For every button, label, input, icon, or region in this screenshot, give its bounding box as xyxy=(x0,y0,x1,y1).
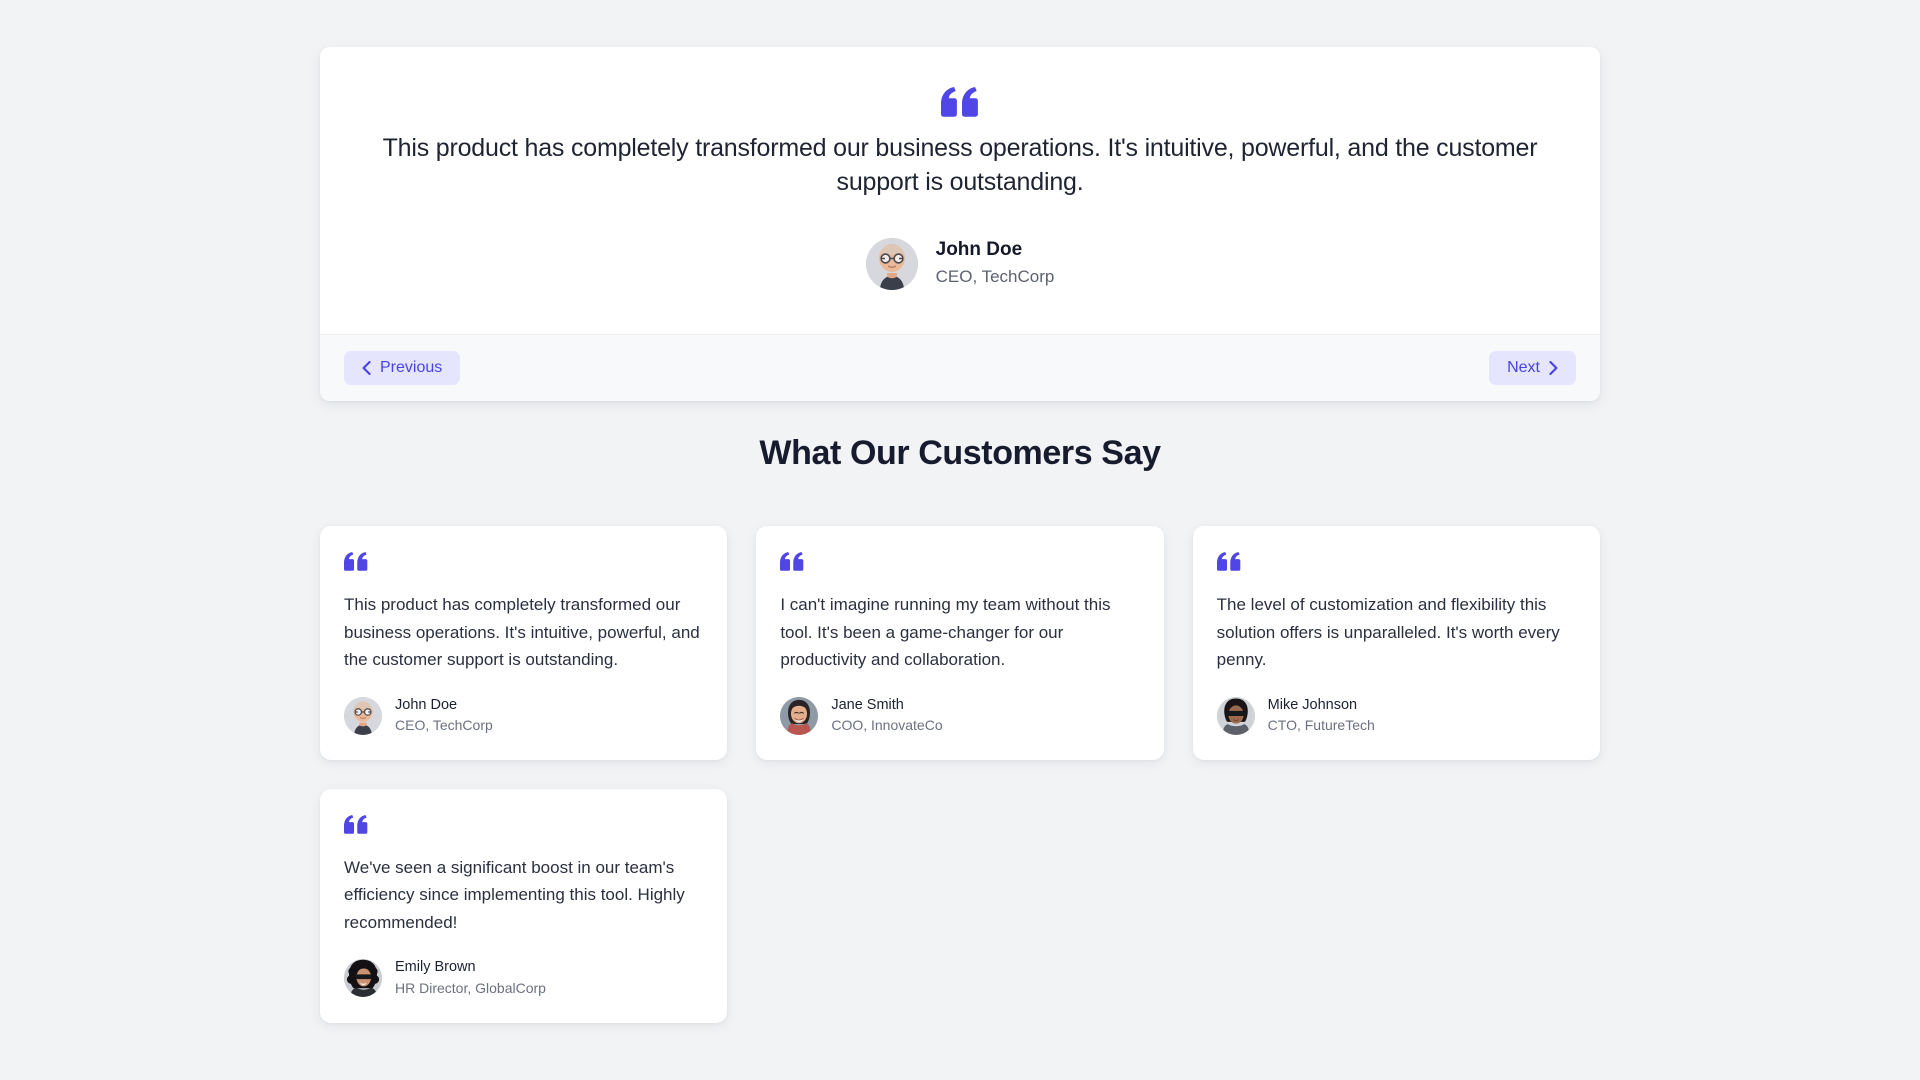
featured-author: John Doe CEO, TechCorp xyxy=(376,238,1544,290)
previous-button[interactable]: Previous xyxy=(344,351,460,385)
testimonial-author-name: John Doe xyxy=(395,696,493,716)
testimonial-author-text: Mike Johnson CTO, FutureTech xyxy=(1268,696,1375,736)
next-button[interactable]: Next xyxy=(1489,351,1576,385)
page-title: What Our Customers Say xyxy=(0,434,1920,473)
quote-left-icon xyxy=(1217,552,1241,571)
chevron-left-icon xyxy=(362,361,371,375)
testimonial-author-name: Jane Smith xyxy=(831,696,942,716)
featured-author-name: John Doe xyxy=(936,238,1055,263)
quote-left-icon xyxy=(780,552,804,571)
avatar-john-doe xyxy=(866,238,918,290)
quote-left-icon xyxy=(344,815,368,834)
testimonial-quote: I can't imagine running my team without … xyxy=(780,591,1139,674)
testimonial-quote: The level of customization and flexibili… xyxy=(1217,591,1576,674)
testimonial-card: This product has completely transformed … xyxy=(320,526,727,760)
testimonial-author-name: Mike Johnson xyxy=(1268,696,1375,716)
carousel-controls: Previous Next xyxy=(320,334,1600,401)
testimonial-quote: This product has completely transformed … xyxy=(344,591,703,674)
featured-testimonial-carousel: This product has completely transformed … xyxy=(320,47,1600,401)
featured-quote-text: This product has completely transformed … xyxy=(376,131,1544,200)
testimonials-page: This product has completely transformed … xyxy=(0,0,1920,1080)
testimonial-author-name: Emily Brown xyxy=(395,958,546,978)
featured-testimonial-body: This product has completely transformed … xyxy=(320,47,1600,334)
testimonial-author-text: John Doe CEO, TechCorp xyxy=(395,696,493,736)
testimonial-author-role: COO, InnovateCo xyxy=(831,716,942,736)
quote-left-icon xyxy=(344,552,368,571)
testimonial-author-text: Emily Brown HR Director, GlobalCorp xyxy=(395,958,546,998)
avatar-emily-brown xyxy=(344,959,382,997)
testimonial-author: Mike Johnson CTO, FutureTech xyxy=(1217,696,1576,736)
featured-author-text: John Doe CEO, TechCorp xyxy=(936,238,1055,288)
featured-author-role: CEO, TechCorp xyxy=(936,265,1055,289)
testimonial-card: I can't imagine running my team without … xyxy=(756,526,1163,760)
testimonial-quote: We've seen a significant boost in our te… xyxy=(344,854,703,937)
testimonials-grid: This product has completely transformed … xyxy=(320,526,1600,1023)
testimonial-author: Emily Brown HR Director, GlobalCorp xyxy=(344,958,703,998)
featured-testimonial-card: This product has completely transformed … xyxy=(320,47,1600,401)
quote-left-icon xyxy=(941,87,979,117)
next-button-label: Next xyxy=(1507,360,1540,376)
avatar-mike-johnson xyxy=(1217,697,1255,735)
testimonial-card: We've seen a significant boost in our te… xyxy=(320,789,727,1023)
chevron-right-icon xyxy=(1549,361,1558,375)
testimonial-author-text: Jane Smith COO, InnovateCo xyxy=(831,696,942,736)
testimonial-author: John Doe CEO, TechCorp xyxy=(344,696,703,736)
testimonial-author: Jane Smith COO, InnovateCo xyxy=(780,696,1139,736)
testimonial-author-role: CEO, TechCorp xyxy=(395,716,493,736)
avatar-jane-smith xyxy=(780,697,818,735)
previous-button-label: Previous xyxy=(380,360,442,376)
testimonial-author-role: HR Director, GlobalCorp xyxy=(395,979,546,999)
testimonial-author-role: CTO, FutureTech xyxy=(1268,716,1375,736)
avatar-john-doe xyxy=(344,697,382,735)
testimonial-card: The level of customization and flexibili… xyxy=(1193,526,1600,760)
